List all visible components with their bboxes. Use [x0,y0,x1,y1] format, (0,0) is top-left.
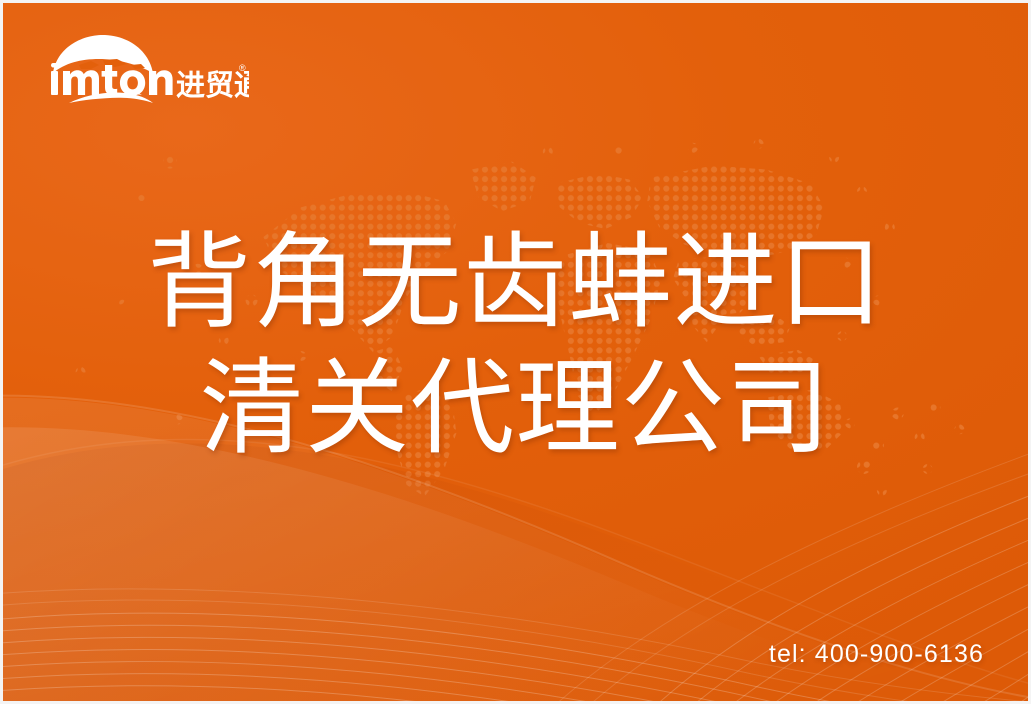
imton-logo[interactable]: 进贸通 ® [39,29,249,109]
globe-arc-icon [53,35,153,74]
contact-telephone[interactable]: tel: 400-900-6136 [769,640,984,669]
promo-banner: 进贸通 ® 背角无齿蚌进口 清关代理公司 tel: 400-900-6136 [0,0,1031,704]
registered-trademark-icon: ® [239,63,246,73]
imton-wordmark [51,63,173,96]
logo-chinese-name: 进贸通 [176,68,249,102]
